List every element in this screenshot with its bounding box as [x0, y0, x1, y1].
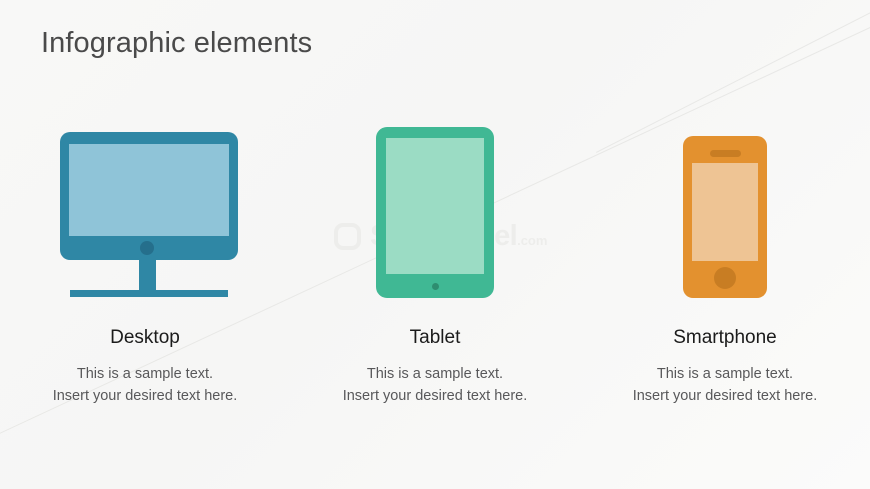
column-description-line1: This is a sample text.: [53, 364, 238, 386]
tablet-frame: [376, 127, 494, 298]
column-description-line1: This is a sample text.: [633, 364, 818, 386]
monitor-screen: [69, 144, 229, 236]
desktop-monitor-icon: [52, 132, 238, 298]
monitor-stand-base: [70, 290, 228, 297]
column-description: This is a sample text. Insert your desir…: [53, 364, 238, 408]
page-title: Infographic elements: [41, 27, 312, 60]
column-tablet[interactable]: Tablet This is a sample text. Insert you…: [290, 100, 580, 408]
column-description: This is a sample text. Insert your desir…: [343, 364, 528, 408]
monitor-power-dot-icon: [140, 241, 154, 255]
phone-home-button-icon: [714, 267, 736, 289]
slide-canvas: Infographic elements SlideModel.com Desk…: [0, 0, 870, 489]
column-smartphone[interactable]: Smartphone This is a sample text. Insert…: [580, 100, 870, 408]
smartphone-artwork: [683, 100, 767, 298]
tablet-screen: [386, 138, 484, 274]
tablet-home-button-icon: [432, 283, 439, 290]
smartphone-device-icon: [683, 136, 767, 298]
column-description-line2: Insert your desired text here.: [343, 386, 528, 408]
tablet-artwork: [376, 100, 494, 298]
desktop-artwork: [52, 100, 238, 298]
column-label: Tablet: [410, 328, 461, 347]
column-label: Smartphone: [673, 328, 777, 347]
phone-speaker-icon: [710, 150, 741, 157]
infographic-columns: Desktop This is a sample text. Insert yo…: [0, 100, 870, 408]
column-description-line1: This is a sample text.: [343, 364, 528, 386]
column-desktop[interactable]: Desktop This is a sample text. Insert yo…: [0, 100, 290, 408]
phone-screen: [692, 163, 758, 261]
column-description-line2: Insert your desired text here.: [633, 386, 818, 408]
tablet-device-icon: [376, 127, 494, 298]
column-description: This is a sample text. Insert your desir…: [633, 364, 818, 408]
column-description-line2: Insert your desired text here.: [53, 386, 238, 408]
column-label: Desktop: [110, 328, 180, 347]
phone-frame: [683, 136, 767, 298]
